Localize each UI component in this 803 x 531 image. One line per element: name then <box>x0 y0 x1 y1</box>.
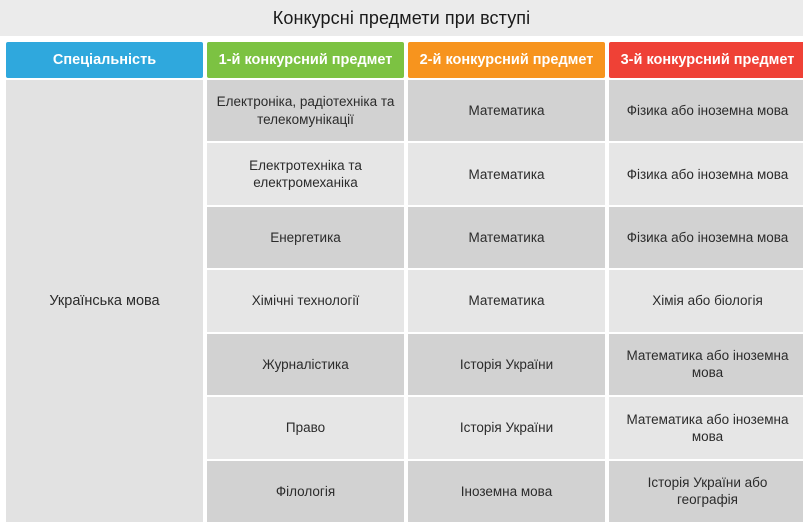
cell-specialty: Право <box>207 397 404 458</box>
cell-specialty: Журналістика <box>207 334 404 395</box>
cell-subject-2: Історія України <box>408 397 605 458</box>
cell-subject-3: Математика або іноземна мова <box>609 334 803 395</box>
comparison-table: Спеціальність 1-й конкурсний предмет 2-й… <box>0 36 803 531</box>
column-header-subject-3[interactable]: 3-й конкурсний предмет <box>609 42 803 78</box>
cell-subject-1-merged: Українська мова <box>6 80 203 522</box>
title-bar: Конкурсні предмети при вступі <box>0 0 803 36</box>
cell-subject-2: Математика <box>408 80 605 141</box>
cell-specialty: Хімічні технології <box>207 270 404 331</box>
cell-specialty: Електроніка, радіотехніка та телекомунік… <box>207 80 404 141</box>
cell-specialty: Електротехніка та електромеханіка <box>207 143 404 204</box>
page-root: Конкурсні предмети при вступі Спеціальні… <box>0 0 803 531</box>
cell-subject-2: Математика <box>408 207 605 268</box>
cell-subject-2: Математика <box>408 143 605 204</box>
cell-subject-2: Математика <box>408 270 605 331</box>
cell-subject-2: Іноземна мова <box>408 461 605 522</box>
column-header-subject-2[interactable]: 2-й конкурсний предмет <box>408 42 605 78</box>
table-grid: Спеціальність 1-й конкурсний предмет 2-й… <box>6 42 797 522</box>
cell-subject-3: Фізика або іноземна мова <box>609 80 803 141</box>
cell-specialty: Філологія <box>207 461 404 522</box>
cell-subject-3: Фізика або іноземна мова <box>609 143 803 204</box>
cell-subject-2: Історія України <box>408 334 605 395</box>
cell-specialty: Енергетика <box>207 207 404 268</box>
column-header-specialty[interactable]: Спеціальність <box>6 42 203 78</box>
cell-subject-3: Історія України або географія <box>609 461 803 522</box>
column-header-subject-1[interactable]: 1-й конкурсний предмет <box>207 42 404 78</box>
page-title: Конкурсні предмети при вступі <box>273 9 531 27</box>
cell-subject-3: Фізика або іноземна мова <box>609 207 803 268</box>
cell-subject-3: Математика або іноземна мова <box>609 397 803 458</box>
cell-subject-3: Хімія або біологія <box>609 270 803 331</box>
